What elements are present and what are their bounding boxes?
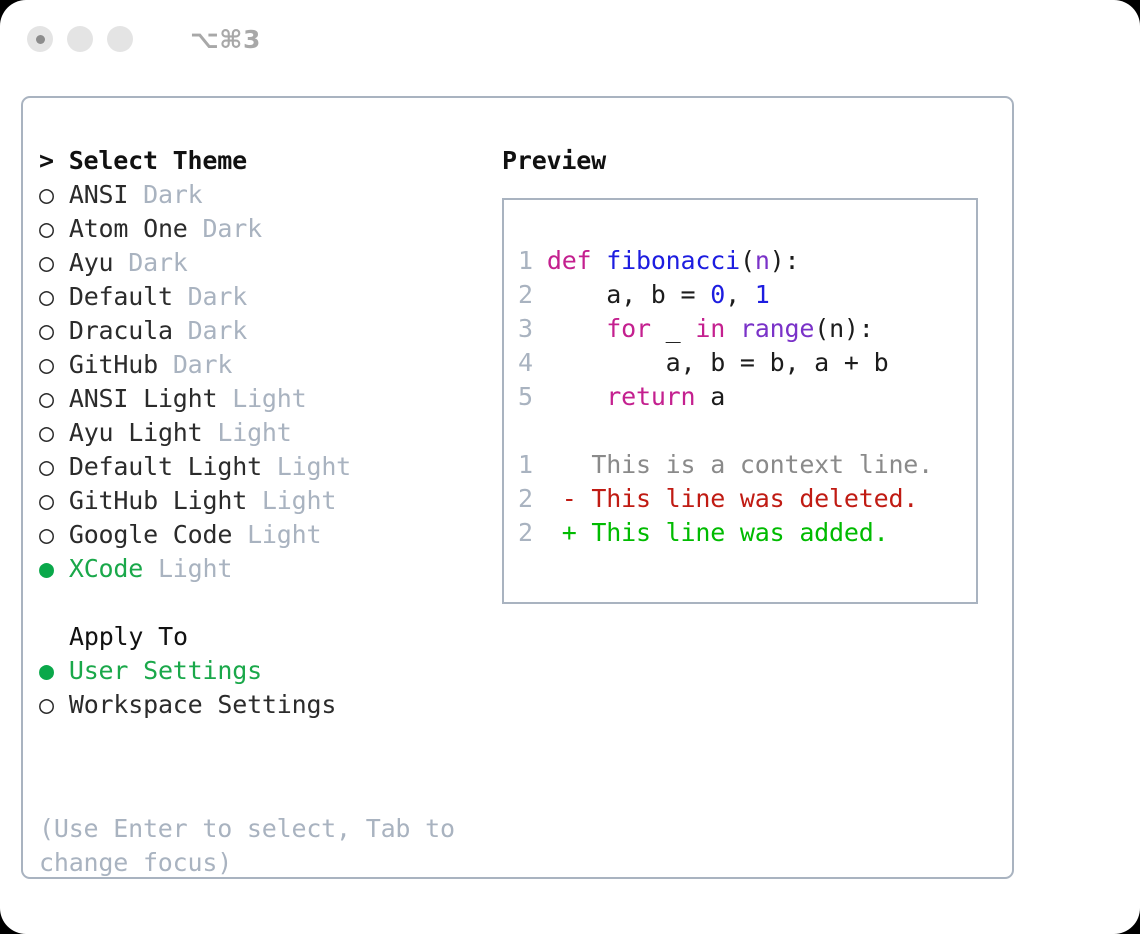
radio-unselected-icon: ○ xyxy=(39,484,54,518)
theme-option-label: Atom One xyxy=(54,214,188,243)
theme-option-label: GitHub Light xyxy=(54,486,247,515)
theme-option-variant: Dark xyxy=(158,350,232,379)
code-token-plain: ( xyxy=(740,246,755,275)
theme-option-label: Ayu Light xyxy=(54,418,203,447)
theme-option-label: Default xyxy=(54,282,173,311)
app-window: ⌥⌘3 > Select Theme ○ ANSI Dark○ Atom One… xyxy=(0,0,1140,934)
window-dot-third[interactable] xyxy=(107,26,133,52)
theme-option-label: Google Code xyxy=(54,520,232,549)
code-line-number: 4 xyxy=(518,346,532,380)
diff-sign: - xyxy=(532,484,577,513)
window-titlebar: ⌥⌘3 xyxy=(0,0,1140,78)
list-spacer xyxy=(39,586,479,620)
theme-option-ayu-light[interactable]: ○ Ayu Light Light xyxy=(39,416,479,450)
radio-unselected-icon: ○ xyxy=(39,212,54,246)
preview-heading: Preview xyxy=(502,144,992,178)
code-line: 1 def fibonacci(n): xyxy=(518,244,976,278)
diff-text: This line was deleted. xyxy=(577,484,919,513)
diff-line-added: 2 + This line was added. xyxy=(518,516,976,550)
theme-option-variant: Light xyxy=(247,486,336,515)
diff-sample: 1 This is a context line.2 - This line w… xyxy=(518,448,976,550)
theme-option-variant: Dark xyxy=(188,214,262,243)
code-token-plain xyxy=(591,246,606,275)
code-line-number: 3 xyxy=(518,312,532,346)
theme-option-variant: Dark xyxy=(173,316,247,345)
code-sample: 1 def fibonacci(n):2 a, b = 0, 13 for _ … xyxy=(518,244,976,414)
theme-option-ansi-light[interactable]: ○ ANSI Light Light xyxy=(39,382,479,416)
code-token-num: 0 xyxy=(710,280,725,309)
diff-line-number: 2 xyxy=(518,516,532,550)
code-token-call: range xyxy=(740,314,814,343)
code-token-kw: return xyxy=(606,382,695,411)
code-line: 3 for _ in range(n): xyxy=(518,312,976,346)
code-token-kw: for xyxy=(606,314,651,343)
code-token-kw: in xyxy=(695,314,725,343)
code-token-plain: a, b = xyxy=(532,280,710,309)
theme-option-label: ANSI Light xyxy=(54,384,217,413)
code-token-plain: , xyxy=(725,280,755,309)
theme-option-label: Ayu xyxy=(54,248,113,277)
theme-list[interactable]: ○ ANSI Dark○ Atom One Dark○ Ayu Dark○ De… xyxy=(39,178,479,586)
code-line: 5 return a xyxy=(518,380,976,414)
keyboard-hint-text: (Use Enter to select, Tab to change focu… xyxy=(39,812,459,880)
diff-line-number: 1 xyxy=(518,448,532,482)
theme-option-github[interactable]: ○ GitHub Dark xyxy=(39,348,479,382)
apply-to-list[interactable]: ● User Settings○ Workspace Settings xyxy=(39,654,479,722)
code-token-plain xyxy=(532,314,606,343)
radio-unselected-icon: ○ xyxy=(39,178,54,212)
theme-option-default[interactable]: ○ Default Dark xyxy=(39,280,479,314)
code-token-plain: ): xyxy=(770,246,800,275)
theme-option-default-light[interactable]: ○ Default Light Light xyxy=(39,450,479,484)
theme-option-variant: Light xyxy=(262,452,351,481)
theme-option-label: Default Light xyxy=(54,452,262,481)
theme-option-xcode[interactable]: ● XCode Light xyxy=(39,552,479,586)
apply-to-option-workspace-settings[interactable]: ○ Workspace Settings xyxy=(39,688,479,722)
theme-option-google-code[interactable]: ○ Google Code Light xyxy=(39,518,479,552)
window-dot-second[interactable] xyxy=(67,26,93,52)
code-token-plain xyxy=(532,246,547,275)
code-token-param: n xyxy=(755,246,770,275)
theme-option-variant: Dark xyxy=(128,180,202,209)
theme-option-variant: Light xyxy=(203,418,292,447)
radio-unselected-icon: ○ xyxy=(39,688,54,722)
code-line: 2 a, b = 0, 1 xyxy=(518,278,976,312)
select-theme-heading: > Select Theme xyxy=(39,144,479,178)
keyboard-shortcut-label: ⌥⌘3 xyxy=(190,25,261,54)
code-diff-gap xyxy=(518,414,976,448)
radio-unselected-icon: ○ xyxy=(39,280,54,314)
theme-option-github-light[interactable]: ○ GitHub Light Light xyxy=(39,484,479,518)
apply-to-option-user-settings[interactable]: ● User Settings xyxy=(39,654,479,688)
radio-unselected-icon: ○ xyxy=(39,416,54,450)
code-token-fn: fibonacci xyxy=(606,246,740,275)
radio-selected-icon: ● xyxy=(39,654,54,688)
theme-option-label: GitHub xyxy=(54,350,158,379)
theme-option-variant: Light xyxy=(143,554,232,583)
diff-sign: + xyxy=(532,518,577,547)
main-panel: > Select Theme ○ ANSI Dark○ Atom One Dar… xyxy=(21,96,1014,879)
code-line: 4 a, b = b, a + b xyxy=(518,346,976,380)
radio-unselected-icon: ○ xyxy=(39,382,54,416)
radio-selected-icon: ● xyxy=(39,552,54,586)
theme-option-variant: Light xyxy=(217,384,306,413)
code-token-plain xyxy=(725,314,740,343)
window-dot-active[interactable] xyxy=(27,26,53,52)
theme-option-atom-one[interactable]: ○ Atom One Dark xyxy=(39,212,479,246)
code-token-kw: def xyxy=(547,246,592,275)
diff-line-context: 1 This is a context line. xyxy=(518,448,976,482)
preview-column: Preview 1 def fibonacci(n):2 a, b = 0, 1… xyxy=(502,144,992,604)
apply-to-heading: Apply To xyxy=(39,620,479,654)
diff-line-deleted: 2 - This line was deleted. xyxy=(518,482,976,516)
code-token-plain: a, b = b, a + b xyxy=(532,348,888,377)
code-line-number: 1 xyxy=(518,244,532,278)
diff-sign xyxy=(532,450,577,479)
apply-to-option-label: Workspace Settings xyxy=(54,690,336,719)
code-line-number: 2 xyxy=(518,278,532,312)
theme-option-ayu[interactable]: ○ Ayu Dark xyxy=(39,246,479,280)
theme-option-label: XCode xyxy=(54,554,143,583)
code-line-number: 5 xyxy=(518,380,532,414)
diff-text: This is a context line. xyxy=(577,450,933,479)
theme-option-label: ANSI xyxy=(54,180,128,209)
theme-option-variant: Dark xyxy=(173,282,247,311)
radio-unselected-icon: ○ xyxy=(39,450,54,484)
theme-option-ansi[interactable]: ○ ANSI Dark xyxy=(39,178,479,212)
diff-text: This line was added. xyxy=(577,518,889,547)
radio-unselected-icon: ○ xyxy=(39,348,54,382)
theme-option-variant: Light xyxy=(232,520,321,549)
code-token-plain xyxy=(532,382,606,411)
code-token-plain: a xyxy=(695,382,725,411)
preview-box: 1 def fibonacci(n):2 a, b = 0, 13 for _ … xyxy=(502,198,978,604)
theme-option-dracula[interactable]: ○ Dracula Dark xyxy=(39,314,479,348)
diff-line-number: 2 xyxy=(518,482,532,516)
theme-option-variant: Dark xyxy=(113,248,187,277)
radio-unselected-icon: ○ xyxy=(39,518,54,552)
theme-option-label: Dracula xyxy=(54,316,173,345)
code-token-plain: _ xyxy=(651,314,696,343)
radio-unselected-icon: ○ xyxy=(39,246,54,280)
code-token-num: 1 xyxy=(755,280,770,309)
theme-selector-column: > Select Theme ○ ANSI Dark○ Atom One Dar… xyxy=(39,144,479,722)
apply-to-option-label: User Settings xyxy=(54,656,262,685)
code-token-plain: (n): xyxy=(814,314,873,343)
radio-unselected-icon: ○ xyxy=(39,314,54,348)
